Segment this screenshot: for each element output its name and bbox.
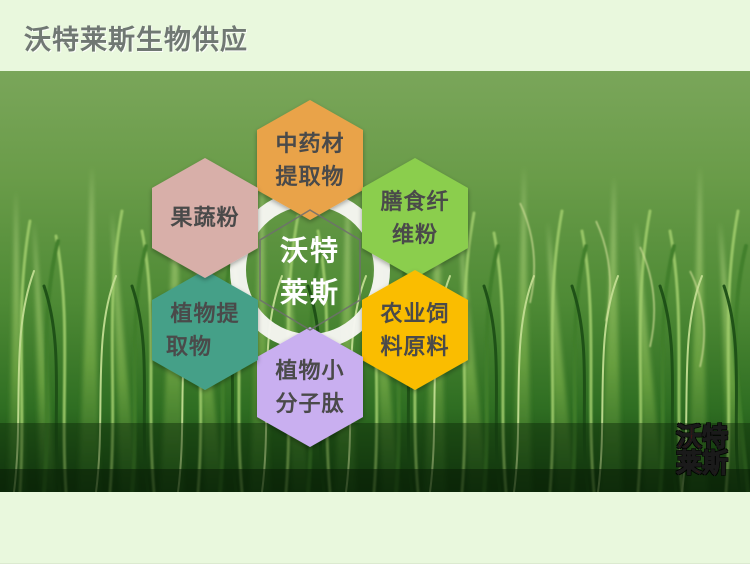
hex-top-label-line1: 中药材	[275, 132, 344, 157]
hex-center-shape	[260, 210, 360, 330]
hex-bottom-left-label-line1: 植物提	[170, 301, 239, 327]
hex-bottom-label-line1: 植物小	[275, 358, 344, 384]
hex-node-center-brand[interactable]: 沃特 莱斯	[260, 210, 360, 330]
hex-top-right-label-line2: 维粉	[392, 222, 438, 248]
hexagon-infographic: 中药材 提取物 膳食纤 维粉 农业饲 料原料 植物小 分子肽	[120, 80, 500, 460]
hero-banner: 中药材 提取物 膳食纤 维粉 农业饲 料原料 植物小 分子肽	[0, 71, 750, 492]
hex-bottom-right-label-line2: 料原料	[380, 335, 449, 360]
hex-bottom-shape	[257, 327, 363, 447]
hex-node-plant-peptides[interactable]: 植物小 分子肽	[257, 327, 363, 447]
brand-watermark: 沃特 莱斯	[676, 425, 728, 478]
hex-center-label-line2: 莱斯	[280, 276, 340, 309]
page-footer	[0, 492, 750, 564]
hex-bottom-left-label-line2: 取物	[166, 334, 212, 360]
hex-top-right-label-line1: 膳食纤	[380, 189, 449, 215]
page-header: 沃特莱斯生物供应	[0, 0, 750, 71]
watermark-line1: 沃特	[676, 425, 728, 452]
hex-top-label-line2: 提取物	[275, 164, 344, 190]
hex-center-label-line1: 沃特	[280, 234, 340, 267]
page-title: 沃特莱斯生物供应	[24, 18, 248, 57]
hex-bottom-label-line2: 分子肽	[275, 392, 344, 417]
hex-bottom-right-label-line1: 农业饲	[379, 301, 449, 327]
hex-top-left-label-line1: 果蔬粉	[170, 206, 239, 231]
watermark-line2: 莱斯	[676, 451, 728, 478]
